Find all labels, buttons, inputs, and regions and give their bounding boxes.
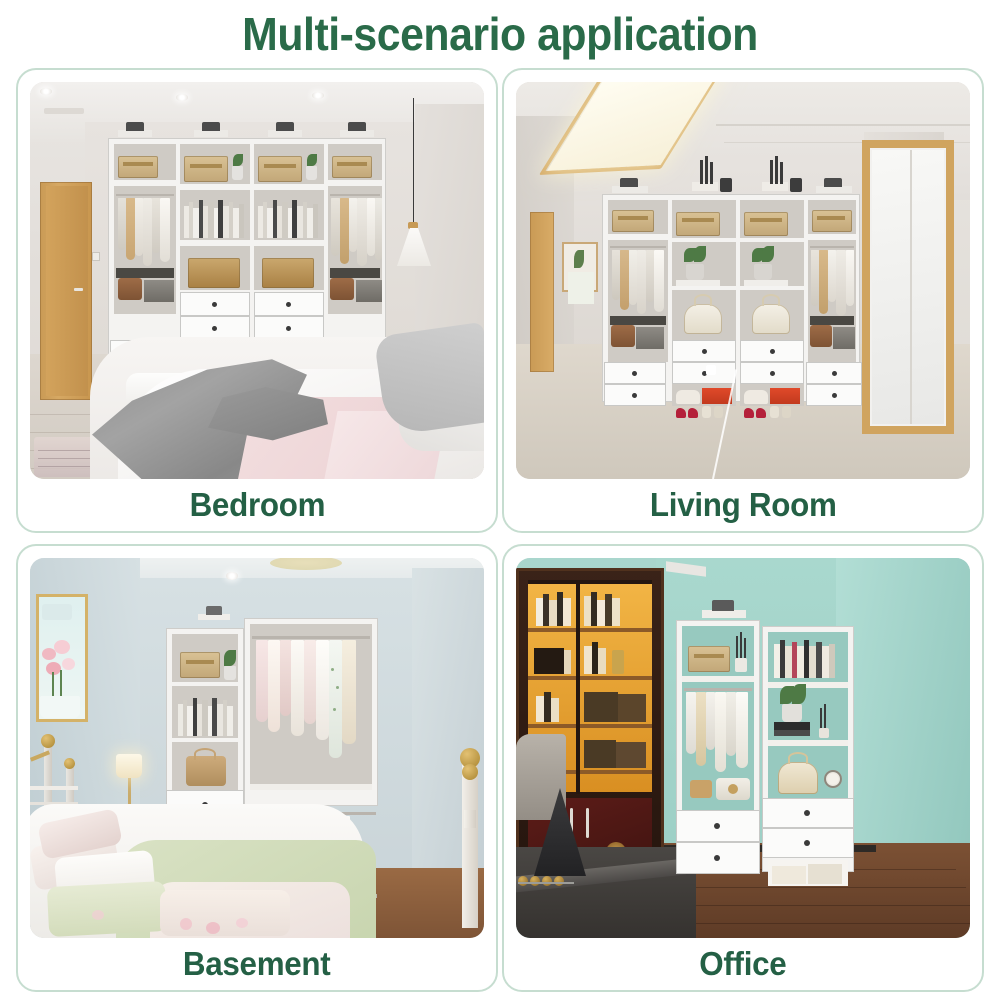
page-root: Multi-scenario application	[0, 0, 1000, 1000]
living-room-photo	[516, 82, 970, 479]
scenario-card-grid: Bedroom	[16, 68, 984, 992]
bedroom-photo	[30, 82, 484, 479]
scenario-card-living-room[interactable]: Living Room	[502, 68, 984, 533]
office-photo	[516, 558, 970, 938]
scenario-card-office[interactable]: Office	[502, 544, 984, 992]
basement-photo	[30, 558, 484, 938]
scenario-card-basement[interactable]: Basement	[16, 544, 498, 992]
card-caption-basement: Basement	[183, 938, 331, 990]
card-caption-office: Office	[699, 938, 786, 990]
scenario-card-bedroom[interactable]: Bedroom	[16, 68, 498, 533]
card-caption-bedroom: Bedroom	[189, 479, 325, 531]
page-title: Multi-scenario application	[35, 6, 965, 62]
card-caption-living-room: Living Room	[650, 479, 837, 531]
